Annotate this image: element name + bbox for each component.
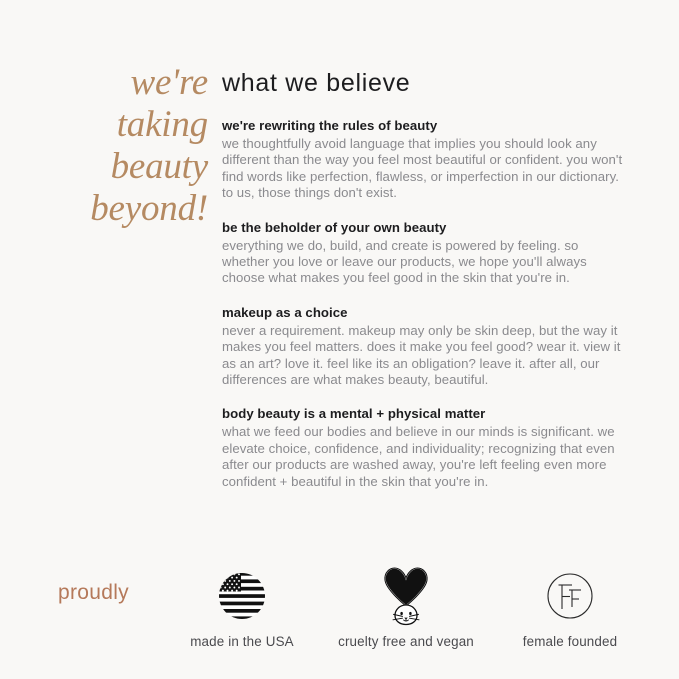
proudly-label: proudly — [58, 581, 129, 605]
section-heading: we're rewriting the rules of beauty — [222, 117, 627, 134]
page-title: what we believe — [222, 68, 627, 98]
display-headline: we're taking beauty beyond! — [40, 62, 208, 230]
section-heading: body beauty is a mental + physical matte… — [222, 405, 627, 422]
section-heading: makeup as a choice — [222, 304, 627, 321]
content-column: what we believe we're rewriting the rule… — [222, 68, 627, 490]
belief-section-beholder: be the beholder of your own beauty every… — [222, 219, 627, 287]
headline-line-3: beauty — [40, 146, 208, 188]
headline-line-1: we're — [40, 62, 208, 104]
belief-section-body-beauty: body beauty is a mental + physical matte… — [222, 405, 627, 490]
trust-badge-footer: proudly — [0, 565, 679, 665]
badge-label: female founded — [470, 634, 670, 649]
section-body: what we feed our bodies and believe in o… — [222, 424, 627, 490]
belief-statement-page: we're taking beauty beyond! what we beli… — [0, 0, 679, 679]
belief-section-makeup-choice: makeup as a choice never a requirement. … — [222, 304, 627, 389]
section-heading: be the beholder of your own beauty — [222, 219, 627, 236]
headline-line-2: taking — [40, 104, 208, 146]
section-body: we thoughtfully avoid language that impl… — [222, 136, 627, 202]
headline-line-4: beyond! — [40, 188, 208, 230]
badge-female-founded: female founded — [470, 565, 670, 649]
female-founded-monogram-icon — [470, 565, 670, 627]
section-body: never a requirement. makeup may only be … — [222, 323, 627, 389]
section-body: everything we do, build, and create is p… — [222, 238, 627, 287]
belief-section-rewriting-rules: we're rewriting the rules of beauty we t… — [222, 117, 627, 202]
